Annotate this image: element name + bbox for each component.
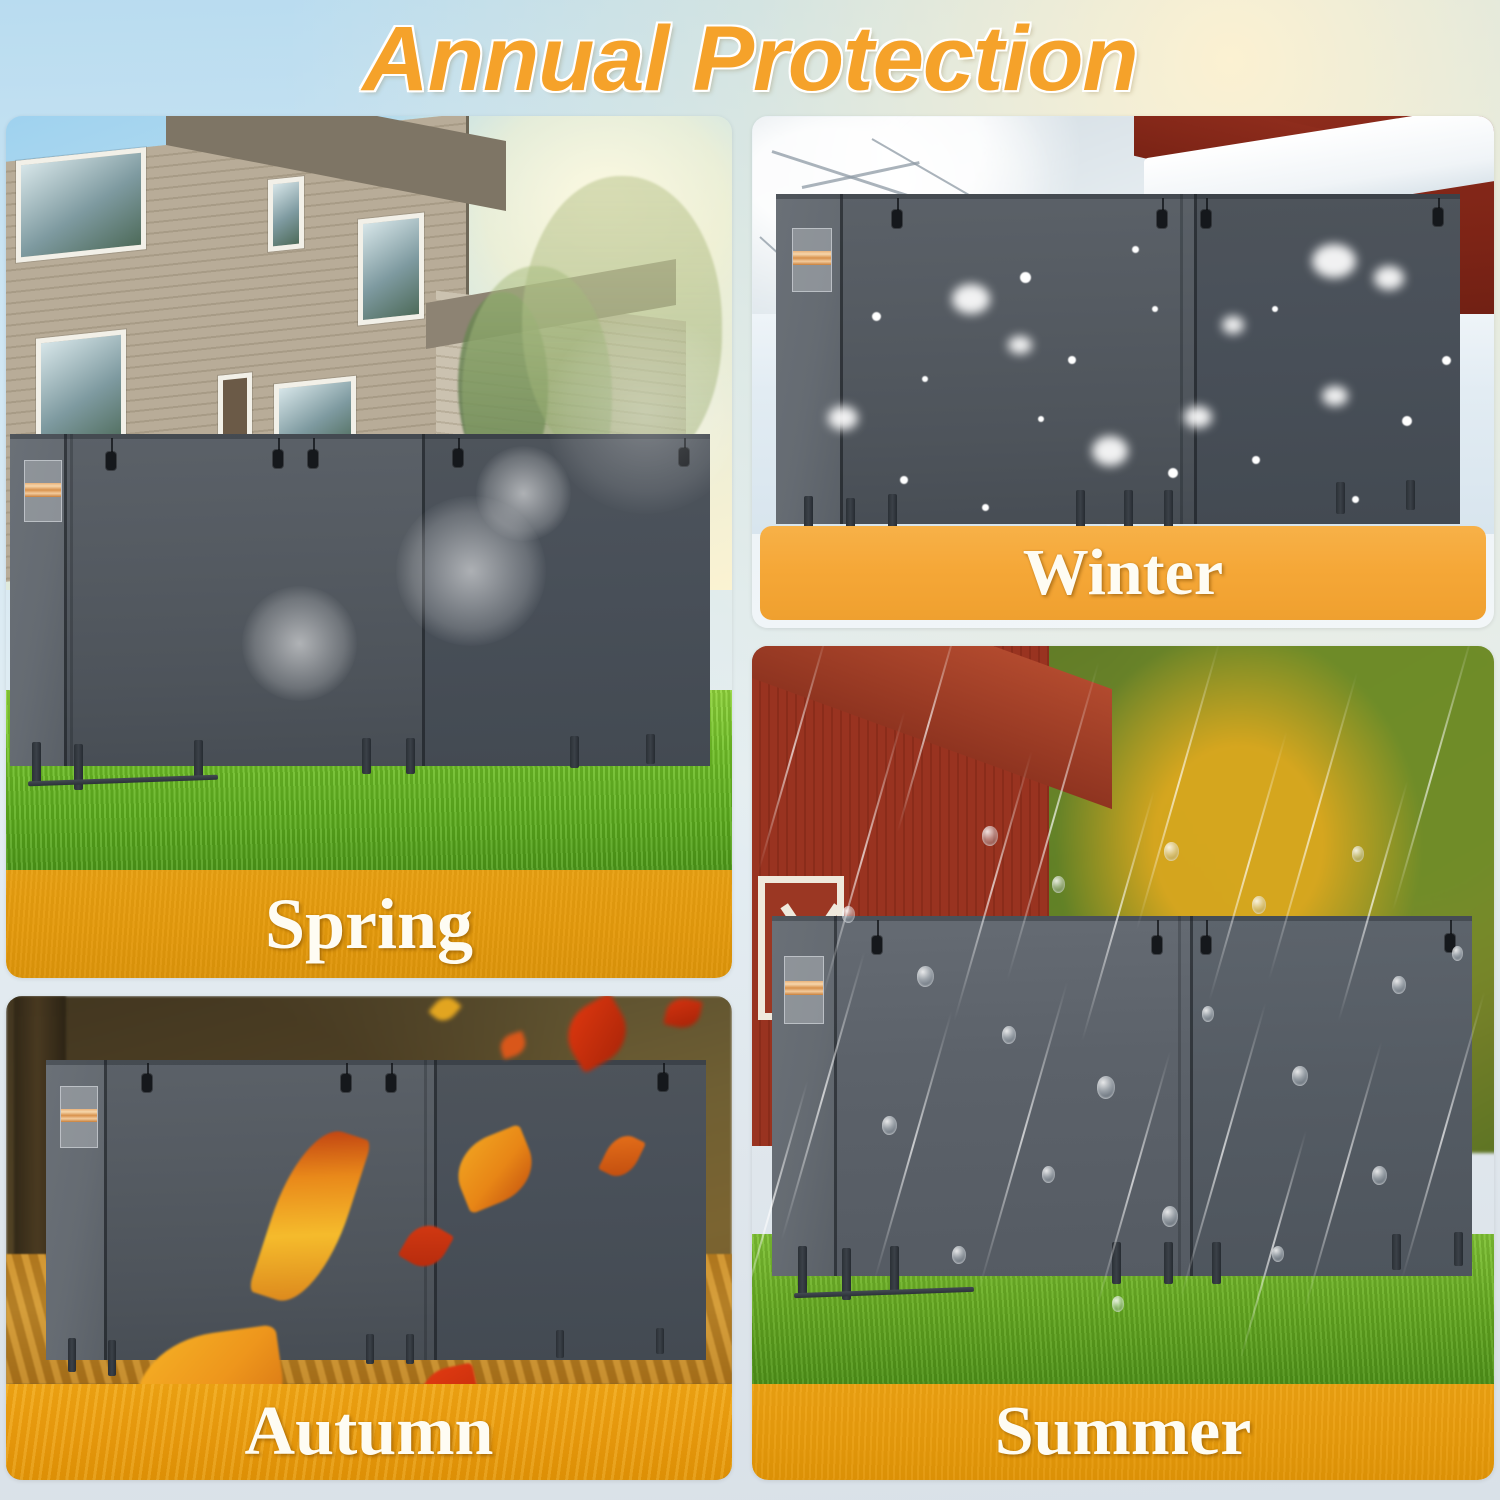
buckle-clip[interactable] bbox=[142, 1074, 152, 1092]
water-droplet bbox=[1352, 846, 1364, 862]
season-label-winter: Winter bbox=[1023, 540, 1223, 606]
water-droplet bbox=[882, 1116, 897, 1135]
rack-leg bbox=[890, 1246, 899, 1294]
season-label-summer: Summer bbox=[995, 1397, 1252, 1467]
lens-flare bbox=[546, 314, 732, 514]
cover-front-panel-left bbox=[834, 916, 1190, 1276]
cover-front-panel-left bbox=[64, 434, 422, 766]
lens-flare bbox=[242, 586, 357, 701]
window bbox=[358, 213, 424, 326]
water-droplet bbox=[1392, 976, 1406, 994]
rack-leg bbox=[1164, 1242, 1173, 1284]
cover-seam bbox=[1194, 194, 1197, 524]
rack-leg bbox=[1076, 490, 1085, 528]
buckle-clip[interactable] bbox=[1433, 208, 1443, 226]
rack-leg bbox=[1336, 482, 1345, 514]
page-title: Annual Protection bbox=[362, 13, 1137, 105]
rack-leg bbox=[798, 1246, 807, 1296]
water-droplet bbox=[917, 966, 934, 987]
rack-leg bbox=[366, 1334, 374, 1364]
buckle-clip[interactable] bbox=[308, 450, 318, 468]
snowflake bbox=[1152, 306, 1158, 312]
snowflake bbox=[982, 504, 989, 511]
product-cover-winter[interactable] bbox=[776, 194, 1460, 524]
snowflake bbox=[1184, 406, 1212, 428]
rack-leg bbox=[1406, 480, 1415, 510]
buckle-clip[interactable] bbox=[1152, 936, 1162, 954]
spring-scene bbox=[6, 116, 732, 978]
rack-leg bbox=[406, 738, 415, 774]
cover-seam bbox=[424, 1060, 427, 1360]
snowflake bbox=[1312, 244, 1356, 278]
reflective-patch bbox=[784, 956, 824, 1024]
season-band-spring: Spring bbox=[6, 870, 732, 978]
snowflake bbox=[1374, 266, 1404, 290]
snowflake bbox=[1008, 336, 1032, 354]
cover-seam bbox=[104, 1060, 107, 1360]
water-droplet bbox=[842, 906, 855, 923]
cover-seam bbox=[64, 434, 67, 766]
panel-autumn[interactable]: Autumn bbox=[6, 996, 732, 1480]
rack-leg bbox=[194, 740, 203, 780]
panel-winter[interactable]: Winter bbox=[752, 116, 1494, 628]
water-droplet bbox=[982, 826, 998, 846]
cover-seam bbox=[434, 1060, 437, 1360]
cover-seam bbox=[840, 194, 843, 524]
cover-seam bbox=[834, 916, 837, 1276]
rack-leg bbox=[68, 1338, 76, 1372]
water-droplet bbox=[1292, 1066, 1308, 1086]
water-droplet bbox=[1164, 842, 1179, 861]
water-droplet bbox=[1202, 1006, 1214, 1022]
snowflake bbox=[1442, 356, 1451, 365]
snowflake bbox=[1020, 272, 1031, 283]
rack-leg bbox=[32, 742, 41, 786]
reflective-strip bbox=[61, 1109, 97, 1122]
cover-front-panel-left bbox=[104, 1060, 434, 1360]
rack-leg bbox=[1392, 1234, 1401, 1270]
cover-seam bbox=[1178, 916, 1181, 1276]
page-title-container: Annual Protection bbox=[0, 6, 1500, 111]
reflective-patch bbox=[792, 228, 832, 292]
water-droplet bbox=[1452, 946, 1463, 961]
cover-top-edge bbox=[776, 194, 1460, 199]
water-droplet bbox=[1052, 876, 1065, 893]
snowflake bbox=[1132, 246, 1139, 253]
buckle-clip[interactable] bbox=[1157, 210, 1167, 228]
panel-spring[interactable]: Spring bbox=[6, 116, 732, 978]
cover-seam bbox=[1190, 916, 1193, 1276]
water-droplet bbox=[1252, 896, 1266, 914]
rack-leg bbox=[556, 1330, 564, 1358]
reflective-patch bbox=[60, 1086, 98, 1148]
buckle-clip[interactable] bbox=[658, 1073, 668, 1091]
water-droplet bbox=[1162, 1206, 1178, 1227]
cover-seam bbox=[70, 434, 73, 766]
window bbox=[16, 147, 146, 263]
rack-leg bbox=[108, 1340, 116, 1376]
snowflake bbox=[1252, 456, 1260, 464]
water-droplet bbox=[1097, 1076, 1115, 1099]
snowflake bbox=[900, 476, 908, 484]
cover-front-panel-right bbox=[1190, 916, 1472, 1276]
rack-leg bbox=[1124, 490, 1133, 530]
rack-leg bbox=[406, 1334, 414, 1364]
rack-leg bbox=[362, 738, 371, 774]
snowflake bbox=[1038, 416, 1044, 422]
reflective-strip bbox=[785, 981, 823, 995]
snowflake bbox=[1068, 356, 1076, 364]
snowflake bbox=[1222, 316, 1244, 334]
snowflake bbox=[952, 284, 990, 314]
season-label-spring: Spring bbox=[265, 888, 473, 960]
snowflake bbox=[1402, 416, 1412, 426]
snowflake bbox=[872, 312, 881, 321]
snowflake bbox=[922, 376, 928, 382]
buckle-clip[interactable] bbox=[872, 936, 882, 954]
water-droplet bbox=[1272, 1246, 1284, 1262]
water-droplet bbox=[1112, 1296, 1124, 1312]
season-band-winter: Winter bbox=[760, 526, 1486, 620]
water-droplet bbox=[1002, 1026, 1016, 1044]
cover-front-panel-left bbox=[840, 194, 1194, 524]
rack-leg bbox=[1454, 1232, 1463, 1266]
water-droplet bbox=[1042, 1166, 1055, 1183]
buckle-clip[interactable] bbox=[386, 1074, 396, 1092]
season-band-summer: Summer bbox=[752, 1384, 1494, 1480]
water-droplet bbox=[952, 1246, 966, 1264]
snowflake bbox=[828, 406, 858, 430]
buckle-clip[interactable] bbox=[453, 449, 463, 467]
snowflake bbox=[1272, 306, 1278, 312]
snowflake bbox=[1092, 436, 1128, 466]
panel-summer[interactable]: Summer bbox=[752, 646, 1494, 1480]
snowflake bbox=[1352, 496, 1359, 503]
rack-leg bbox=[646, 734, 655, 764]
window bbox=[268, 176, 304, 252]
buckle-clip[interactable] bbox=[892, 210, 902, 228]
snowflake bbox=[1168, 468, 1178, 478]
reflective-strip bbox=[25, 483, 61, 497]
reflective-patch bbox=[24, 460, 62, 522]
cover-front-panel-right bbox=[1194, 194, 1460, 524]
buckle-clip[interactable] bbox=[341, 1074, 351, 1092]
summer-scene bbox=[752, 646, 1494, 1480]
buckle-clip[interactable] bbox=[273, 450, 283, 468]
cover-top-edge bbox=[46, 1060, 706, 1065]
season-label-autumn: Autumn bbox=[245, 1397, 494, 1467]
product-cover-autumn[interactable] bbox=[46, 1060, 706, 1360]
buckle-clip[interactable] bbox=[1201, 210, 1211, 228]
reflective-strip bbox=[793, 251, 831, 265]
rack-leg bbox=[656, 1328, 664, 1354]
cover-seam bbox=[1180, 194, 1183, 524]
rack-leg bbox=[1164, 490, 1173, 530]
buckle-clip[interactable] bbox=[1201, 936, 1211, 954]
buckle-clip[interactable] bbox=[106, 452, 116, 470]
rack-leg bbox=[570, 736, 579, 768]
season-band-autumn: Autumn bbox=[6, 1384, 732, 1480]
rack-leg bbox=[1212, 1242, 1221, 1284]
water-droplet bbox=[1372, 1166, 1387, 1185]
snowflake bbox=[1322, 386, 1348, 406]
